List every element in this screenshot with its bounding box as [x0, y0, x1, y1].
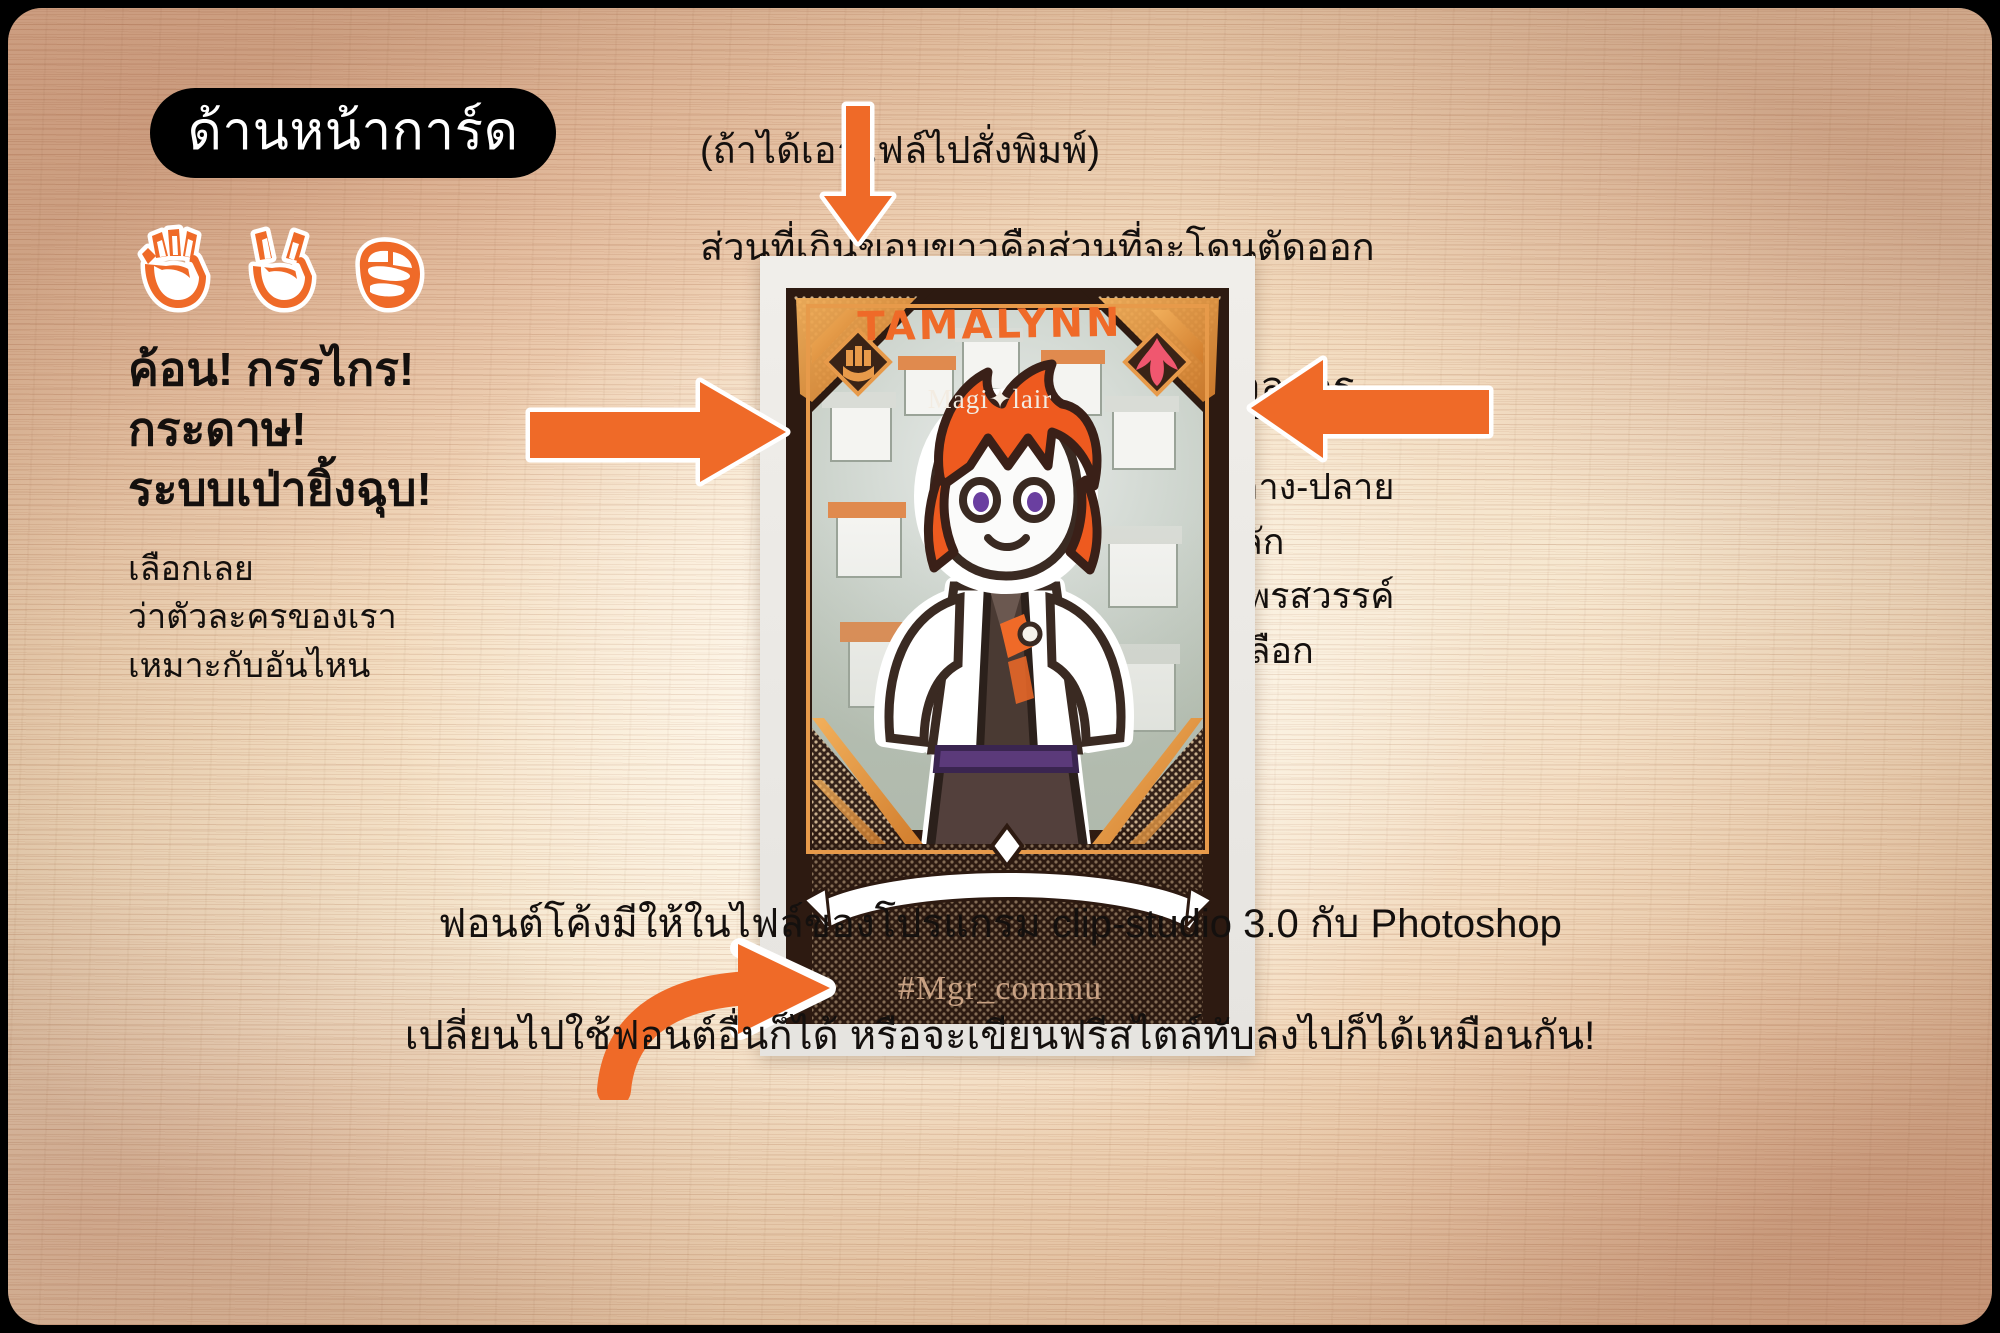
poster-canvas: ด้านหน้าการ์ด (ถ้าได้เอาไฟล์ไปสั่งพิมพ์)…	[0, 0, 2000, 1333]
rps-body-text: เลือกเลย ว่าตัวละครของเรา เหมาะกับอันไหน	[128, 545, 548, 690]
font-note-line2: เปลี่ยนไปใช้ฟอนต์อื่นก็ได้ หรือจะเขียนฟร…	[180, 1008, 1820, 1064]
hand-paper-icon	[132, 218, 220, 314]
hashtag-text: #Mgr_commu	[898, 970, 1103, 1007]
page-title: ด้านหน้าการ์ด	[187, 105, 518, 158]
rps-hand-icon-group	[132, 218, 432, 314]
card-character-name: TAMALYNN	[786, 298, 1194, 351]
arrow-to-element-badge	[1245, 352, 1495, 477]
rps-heading: ค้อน! กรรไกร! กระดาษ! ระบบเป่ายิ้งฉุบ!	[128, 340, 548, 519]
arrow-to-gesture-badge	[524, 372, 794, 502]
hand-scissors-icon	[238, 218, 326, 314]
page-title-pill: ด้านหน้าการ์ด	[150, 88, 556, 178]
font-note-line1: ฟอนต์โค้งมีให้ในไฟล์ของโปรแกรม clip-stud…	[180, 896, 1820, 952]
arrow-to-bleed-edge	[812, 100, 904, 250]
hand-rock-icon	[344, 218, 432, 314]
hashtag-footer: #Mgr_commu	[0, 970, 2000, 1008]
card-subtitle: Magi✦lair	[786, 384, 1194, 415]
